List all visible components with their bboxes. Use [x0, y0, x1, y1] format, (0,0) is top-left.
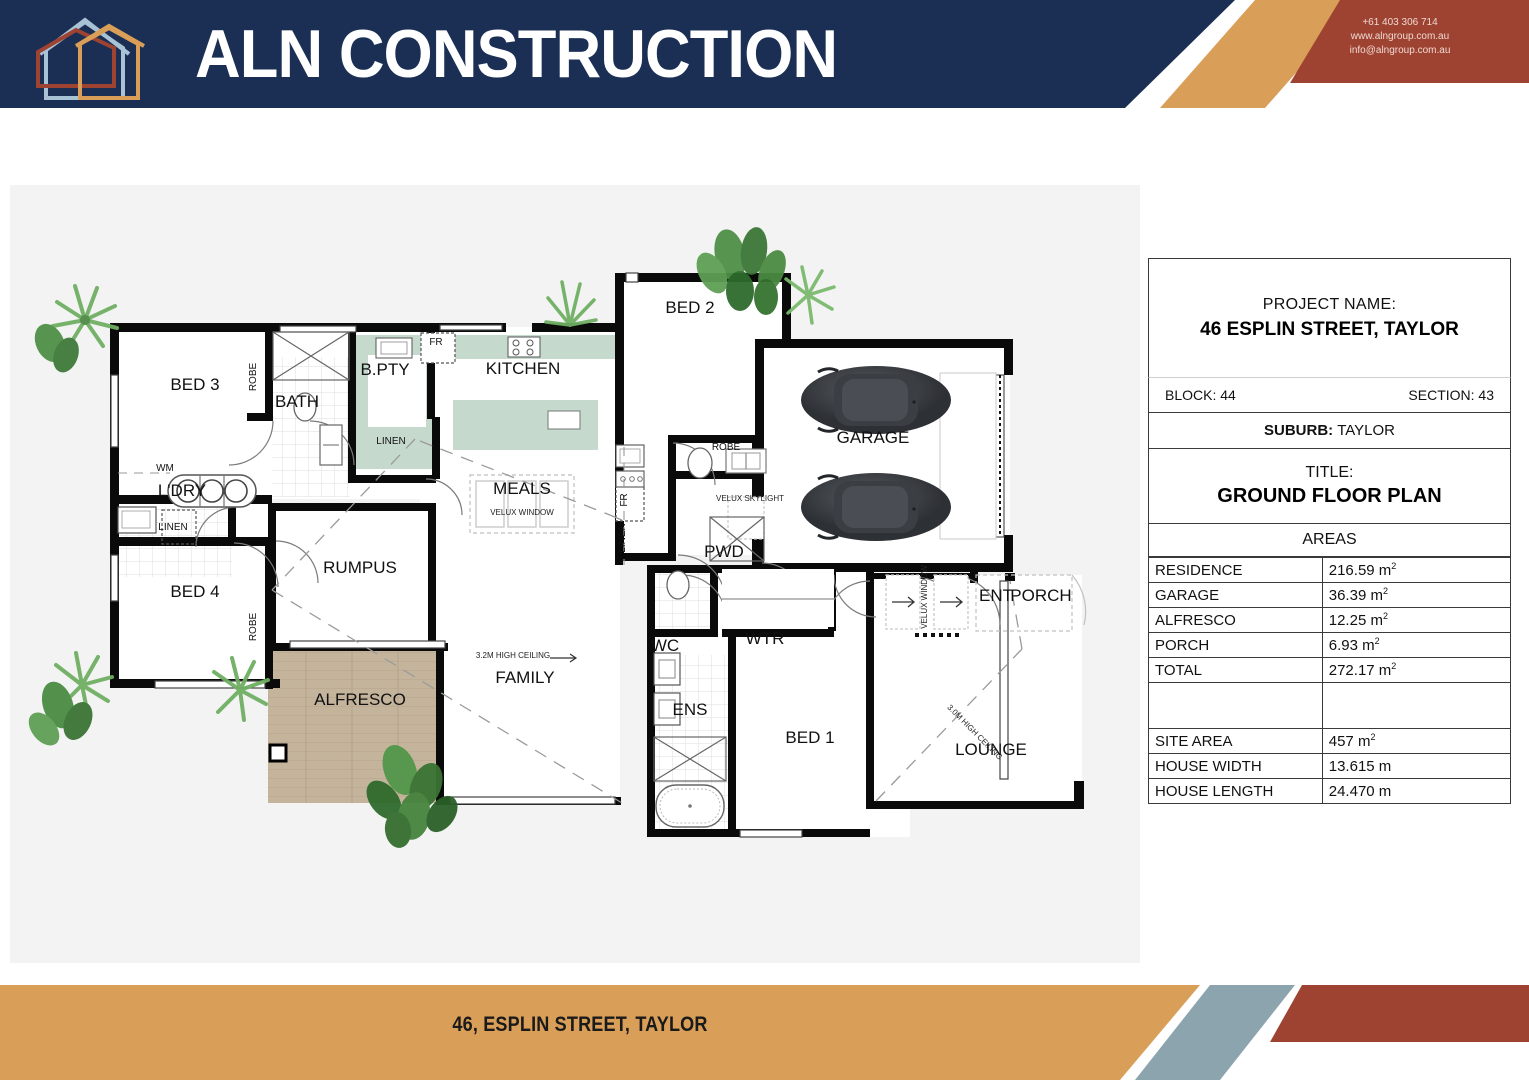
- room-label: PWD: [704, 542, 744, 561]
- room-label: B.PTY: [360, 360, 409, 379]
- header-contact-info: +61 403 306 714 www.alngroup.com.au info…: [1300, 16, 1500, 58]
- areas-table-row: PORCH6.93 m2: [1149, 633, 1511, 658]
- area-value: 272.17 m2: [1322, 658, 1510, 683]
- room-label: WC: [651, 636, 679, 655]
- fixture-label: FR: [429, 337, 442, 348]
- room-label: RUMPUS: [323, 558, 397, 577]
- area-value: 216.59 m2: [1322, 558, 1510, 583]
- company-title: ALN CONSTRUCTION: [195, 10, 837, 98]
- area-key: SITE AREA: [1149, 729, 1323, 754]
- wc-toilet: [667, 571, 689, 599]
- floor-plan-drawing: BED 3BED 4BED 2BED 1BATHB.PTYKITCHENMEAL…: [10, 185, 1140, 963]
- room-label: BED 4: [170, 582, 219, 601]
- contact-website[interactable]: www.alngroup.com.au: [1300, 30, 1500, 44]
- room-label: GARAGE: [837, 428, 910, 447]
- ceiling-annotation: VELUX SKYLIGHT: [716, 494, 784, 503]
- area-value: 36.39 m2: [1322, 583, 1510, 608]
- fixture-label: LINEN: [617, 523, 628, 552]
- contact-phone: +61 403 306 714: [1300, 16, 1500, 30]
- fixture-label: ROBE: [248, 363, 259, 392]
- drawing-title-label: TITLE:: [1305, 464, 1353, 482]
- project-name-value: 46 ESPLIN STREET, TAYLOR: [1200, 319, 1459, 341]
- footer-address: 46, ESPLIN STREET, TAYLOR: [81, 1013, 1079, 1037]
- fixture-label: ROBE: [248, 613, 259, 642]
- garage-car-2: [801, 473, 951, 541]
- fixture-label: LINEN: [376, 436, 405, 447]
- room-label: BATH: [275, 392, 319, 411]
- drawing-title-value: GROUND FLOOR PLAN: [1217, 485, 1441, 508]
- area-key: HOUSE LENGTH: [1149, 779, 1323, 804]
- aln-house-logo: [28, 8, 178, 104]
- area-key: TOTAL: [1149, 658, 1323, 683]
- floor-plan-canvas: BED 3BED 4BED 2BED 1BATHB.PTYKITCHENMEAL…: [10, 185, 1140, 963]
- area-key: HOUSE WIDTH: [1149, 754, 1323, 779]
- project-name-block: PROJECT NAME: 46 ESPLIN STREET, TAYLOR: [1148, 258, 1511, 378]
- footer-red-block: [1270, 985, 1529, 1042]
- contact-email[interactable]: info@alngroup.com.au: [1300, 44, 1500, 58]
- ceiling-annotation: VELUX WINDOW: [920, 565, 929, 629]
- page-header: ALN CONSTRUCTION +61 403 306 714 www.aln…: [0, 0, 1529, 108]
- fixture-label: WM: [156, 463, 174, 474]
- area-value: 24.470 m: [1322, 779, 1510, 804]
- room-label: ENS: [673, 700, 708, 719]
- areas-table: RESIDENCE216.59 m2GARAGE36.39 m2ALFRESCO…: [1148, 557, 1511, 804]
- block-section-row: BLOCK: 44 SECTION: 43: [1148, 378, 1511, 413]
- area-value: 13.615 m: [1322, 754, 1510, 779]
- room-label: KITCHEN: [486, 359, 561, 378]
- fixture-label: LINEN: [158, 522, 187, 533]
- project-name-label: PROJECT NAME:: [1263, 296, 1396, 314]
- fixture-label: FR: [619, 493, 630, 506]
- site-table-row: HOUSE WIDTH13.615 m: [1149, 754, 1511, 779]
- ceiling-annotation: VELUX WINDOW: [490, 508, 554, 517]
- area-key: PORCH: [1149, 633, 1323, 658]
- areas-header: AREAS: [1148, 524, 1511, 557]
- pwd-toilet: [688, 448, 712, 478]
- drawing-title-block: TITLE: GROUND FLOOR PLAN: [1148, 449, 1511, 524]
- room-label: L'DRY: [158, 481, 206, 500]
- area-key: GARAGE: [1149, 583, 1323, 608]
- area-key: RESIDENCE: [1149, 558, 1323, 583]
- suburb-value: TAYLOR: [1337, 422, 1395, 439]
- room-label: ENT: [979, 586, 1013, 605]
- site-table-row: SITE AREA457 m2: [1149, 729, 1511, 754]
- area-value: 457 m2: [1322, 729, 1510, 754]
- areas-table-row: RESIDENCE216.59 m2: [1149, 558, 1511, 583]
- site-table-row: HOUSE LENGTH24.470 m: [1149, 779, 1511, 804]
- area-value: 12.25 m2: [1322, 608, 1510, 633]
- page-footer: 46, ESPLIN STREET, TAYLOR: [0, 985, 1529, 1080]
- project-info-panel: PROJECT NAME: 46 ESPLIN STREET, TAYLOR B…: [1148, 258, 1511, 883]
- area-value: 6.93 m2: [1322, 633, 1510, 658]
- room-label: MEALS: [493, 479, 551, 498]
- ceiling-annotation: 3.2M HIGH CEILING: [476, 651, 550, 660]
- section-value: SECTION: 43: [1408, 387, 1494, 403]
- room-label: WTR: [746, 629, 785, 648]
- area-key: ALFRESCO: [1149, 608, 1323, 633]
- room-label: PORCH: [1010, 586, 1071, 605]
- block-value: BLOCK: 44: [1165, 387, 1236, 403]
- suburb-label: SUBURB:: [1264, 422, 1333, 439]
- garage-car-1: [801, 366, 951, 434]
- areas-table-row: GARAGE36.39 m2: [1149, 583, 1511, 608]
- room-label: ALFRESCO: [314, 690, 406, 709]
- room-label: BED 3: [170, 375, 219, 394]
- room-label: FAMILY: [495, 668, 554, 687]
- areas-table-row: TOTAL272.17 m2: [1149, 658, 1511, 683]
- fixture-label: ROBE: [712, 442, 741, 453]
- room-label: BED 2: [665, 298, 714, 317]
- room-label: BED 1: [785, 728, 834, 747]
- suburb-row: SUBURB: TAYLOR: [1148, 413, 1511, 449]
- areas-table-row: ALFRESCO12.25 m2: [1149, 608, 1511, 633]
- areas-spacer-row: [1149, 683, 1511, 729]
